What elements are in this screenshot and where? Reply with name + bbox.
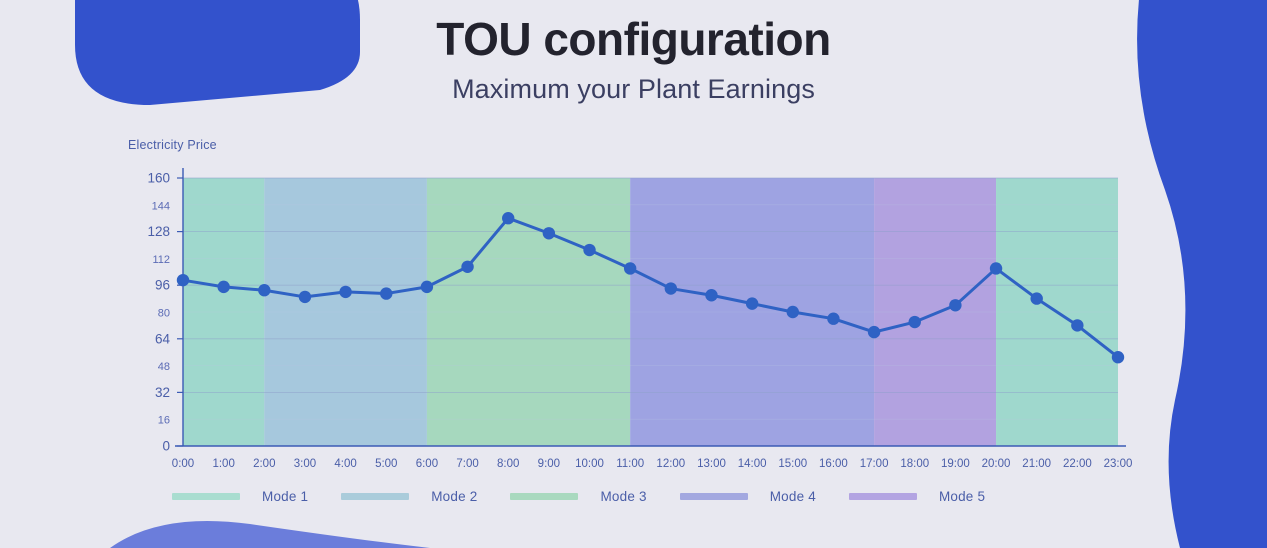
legend-label: Mode 3 xyxy=(600,489,646,504)
x-tick-label: 0:00 xyxy=(172,458,194,470)
data-point[interactable] xyxy=(258,284,270,296)
y-tick-label: 96 xyxy=(155,278,170,293)
legend-label: Mode 2 xyxy=(431,489,477,504)
legend-swatch xyxy=(680,493,748,500)
x-tick-label: 6:00 xyxy=(416,458,438,470)
data-point[interactable] xyxy=(990,262,1002,274)
x-tick-label: 14:00 xyxy=(738,458,767,470)
y-axis-ticks: 0163248648096112128144160 xyxy=(147,171,183,454)
x-tick-label: 16:00 xyxy=(819,458,848,470)
y-tick-label: 64 xyxy=(155,331,171,346)
data-point[interactable] xyxy=(624,262,636,274)
data-point[interactable] xyxy=(868,326,880,338)
legend-item[interactable]: Mode 5 xyxy=(849,489,985,504)
data-point[interactable] xyxy=(787,306,799,318)
data-point[interactable] xyxy=(1112,351,1124,363)
legend-label: Mode 4 xyxy=(770,489,816,504)
data-point[interactable] xyxy=(1030,292,1042,304)
x-tick-label: 10:00 xyxy=(575,458,604,470)
legend-item[interactable]: Mode 4 xyxy=(680,489,816,504)
data-point[interactable] xyxy=(746,297,758,309)
data-point[interactable] xyxy=(217,281,229,293)
page-title: TOU configuration xyxy=(0,0,1267,65)
x-tick-label: 7:00 xyxy=(456,458,478,470)
data-point[interactable] xyxy=(461,261,473,273)
y-tick-label: 144 xyxy=(152,200,170,212)
legend-item[interactable]: Mode 1 xyxy=(172,489,308,504)
y-tick-label: 16 xyxy=(158,415,170,427)
x-tick-label: 19:00 xyxy=(941,458,970,470)
data-point[interactable] xyxy=(1071,319,1083,331)
chart-legend: Mode 1Mode 2Mode 3Mode 4Mode 5 xyxy=(172,487,1072,505)
x-tick-label: 18:00 xyxy=(900,458,929,470)
header: TOU configuration Maximum your Plant Ear… xyxy=(0,0,1267,104)
legend-swatch xyxy=(341,493,409,500)
x-tick-label: 13:00 xyxy=(697,458,726,470)
x-axis-ticks: 0:001:002:003:004:005:006:007:008:009:00… xyxy=(172,458,1133,470)
y-tick-label: 0 xyxy=(162,439,170,454)
x-tick-label: 3:00 xyxy=(294,458,316,470)
x-tick-label: 9:00 xyxy=(538,458,560,470)
legend-swatch xyxy=(510,493,578,500)
x-tick-label: 11:00 xyxy=(616,458,644,470)
data-point[interactable] xyxy=(177,274,189,286)
x-tick-label: 21:00 xyxy=(1022,458,1051,470)
legend-swatch xyxy=(172,493,240,500)
data-point[interactable] xyxy=(543,227,555,239)
y-tick-label: 48 xyxy=(158,361,170,373)
y-tick-label: 80 xyxy=(158,308,170,320)
x-tick-label: 15:00 xyxy=(778,458,807,470)
data-point[interactable] xyxy=(421,281,433,293)
legend-item[interactable]: Mode 2 xyxy=(341,489,477,504)
y-tick-label: 112 xyxy=(152,254,170,266)
y-tick-label: 160 xyxy=(147,171,170,186)
data-point[interactable] xyxy=(339,286,351,298)
x-tick-label: 20:00 xyxy=(982,458,1011,470)
y-tick-label: 32 xyxy=(155,385,170,400)
y-tick-label: 128 xyxy=(147,224,170,239)
data-point[interactable] xyxy=(665,282,677,294)
x-tick-label: 2:00 xyxy=(253,458,275,470)
data-point[interactable] xyxy=(827,313,839,325)
data-point[interactable] xyxy=(705,289,717,301)
legend-item[interactable]: Mode 3 xyxy=(510,489,646,504)
legend-label: Mode 5 xyxy=(939,489,985,504)
x-tick-label: 8:00 xyxy=(497,458,519,470)
x-tick-label: 12:00 xyxy=(656,458,685,470)
data-point[interactable] xyxy=(909,316,921,328)
data-point[interactable] xyxy=(299,291,311,303)
page-subtitle: Maximum your Plant Earnings xyxy=(0,65,1267,105)
legend-label: Mode 1 xyxy=(262,489,308,504)
data-point[interactable] xyxy=(583,244,595,256)
data-point[interactable] xyxy=(380,287,392,299)
legend-swatch xyxy=(849,493,917,500)
screen-root: TOU configuration Maximum your Plant Ear… xyxy=(0,0,1267,548)
x-tick-label: 17:00 xyxy=(860,458,889,470)
x-tick-label: 5:00 xyxy=(375,458,397,470)
x-tick-label: 22:00 xyxy=(1063,458,1092,470)
data-point[interactable] xyxy=(949,299,961,311)
x-tick-label: 4:00 xyxy=(334,458,356,470)
data-point[interactable] xyxy=(502,212,514,224)
x-tick-label: 23:00 xyxy=(1104,458,1133,470)
x-tick-label: 1:00 xyxy=(212,458,234,470)
